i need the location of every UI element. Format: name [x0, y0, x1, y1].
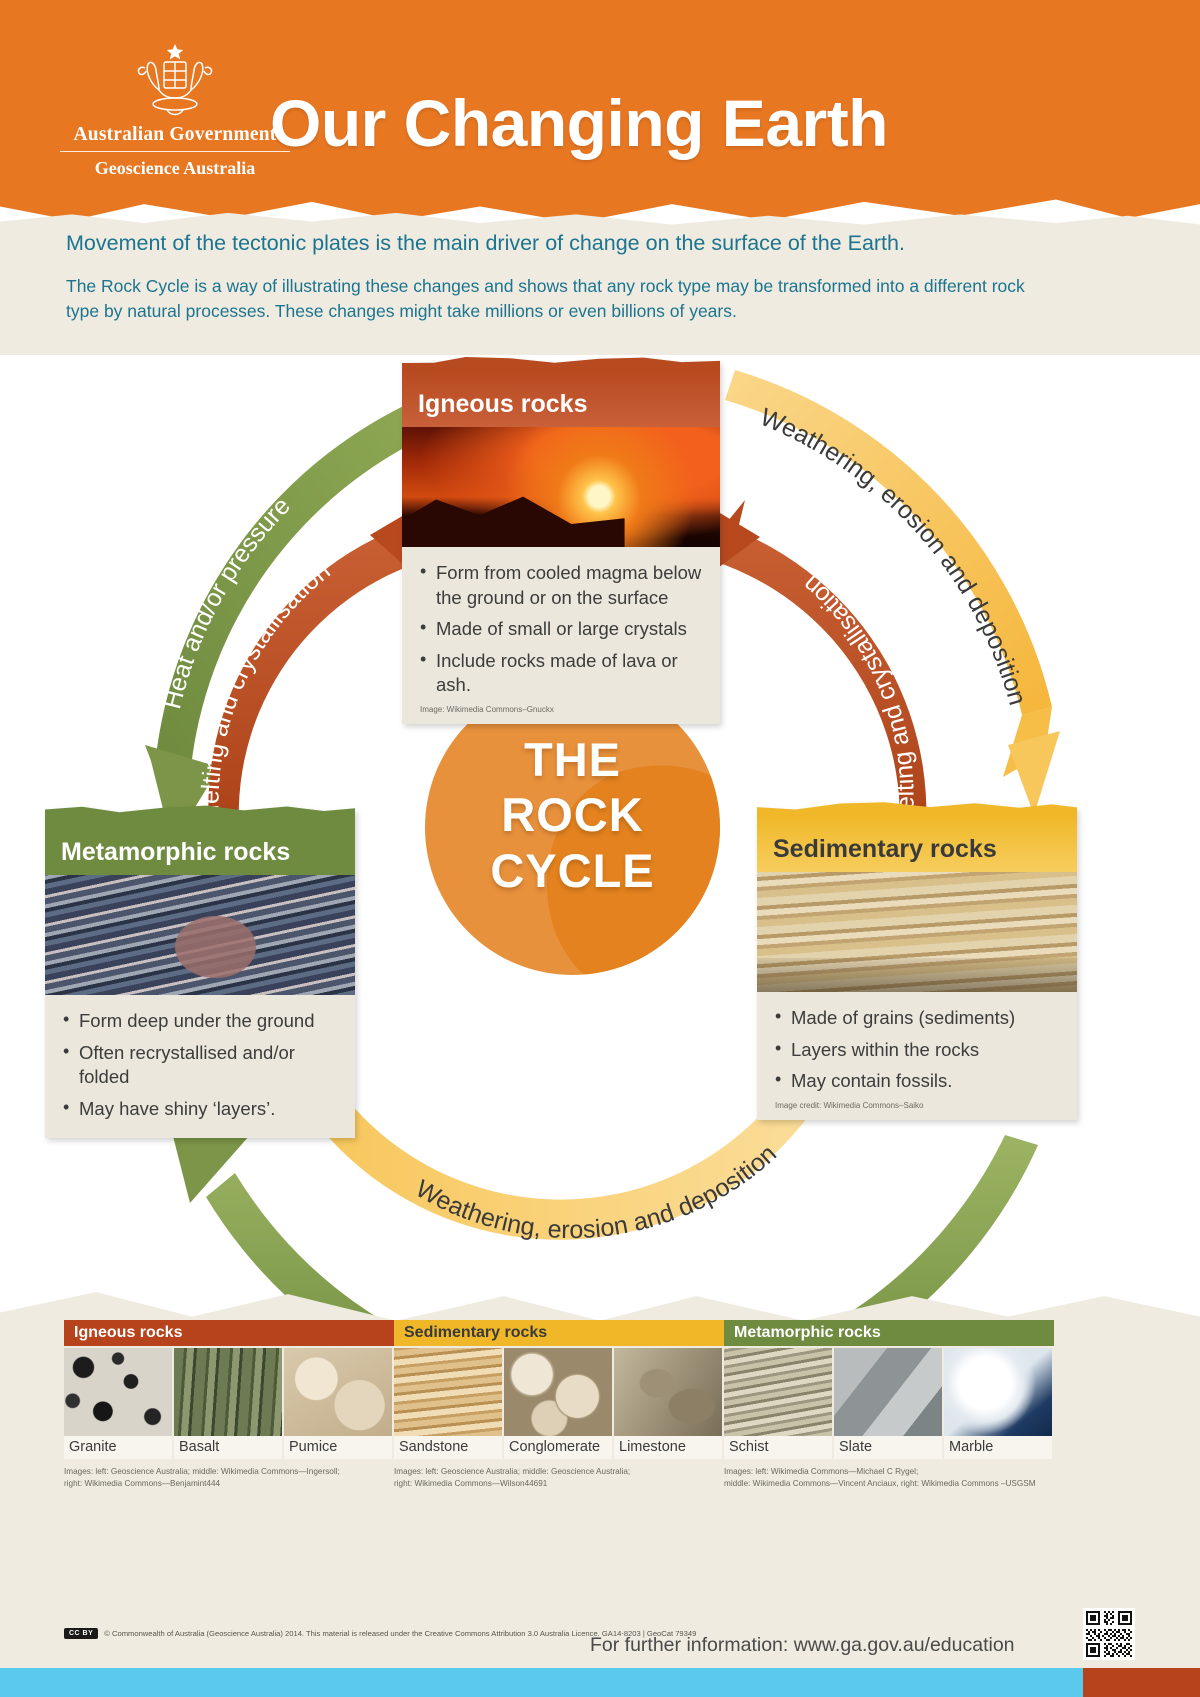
sample-name: Marble [944, 1436, 1052, 1459]
center-line-1: THE [425, 732, 720, 787]
bullet-item: Made of small or large crystals [420, 617, 702, 642]
svg-text:AUSTRALIA: AUSTRALIA [159, 103, 191, 109]
marble-thumbnail [944, 1348, 1052, 1436]
igneous-photo [402, 427, 720, 547]
sample-name: Basalt [174, 1436, 282, 1459]
granite-thumbnail [64, 1348, 172, 1436]
page-title: Our Changing Earth [270, 85, 970, 161]
card-bullet-list: Form from cooled magma below the ground … [420, 561, 702, 698]
footer-bar-blue [0, 1668, 1083, 1697]
image-credit: Image: Wikimedia Commons–Gnuckx [420, 705, 702, 714]
card-body: Form deep under the ground Often recryst… [45, 995, 355, 1138]
metamorphic-photo [45, 875, 355, 995]
gallery-metamorphic: Metamorphic rocks Schist Slate Marble Im… [724, 1320, 1054, 1489]
gallery-credit: Images: left: Geoscience Australia; midd… [64, 1466, 394, 1489]
gallery-sedimentary: Sedimentary rocks Sandstone Conglomerate… [394, 1320, 724, 1489]
card-bullet-list: Form deep under the ground Often recryst… [63, 1009, 337, 1121]
sample-cell: Granite [64, 1348, 172, 1459]
sandstone-thumbnail [394, 1348, 502, 1436]
intro-body: The Rock Cycle is a way of illustrating … [66, 274, 1046, 324]
card-title: Sedimentary rocks [773, 835, 997, 863]
footer-bar-rust [1083, 1668, 1200, 1697]
card-body: Form from cooled magma below the ground … [402, 547, 720, 724]
pumice-thumbnail [284, 1348, 392, 1436]
gallery-credit: Images: left: Geoscience Australia; midd… [394, 1466, 724, 1489]
sample-cell: Marble [944, 1348, 1052, 1459]
sample-name: Sandstone [394, 1436, 502, 1459]
center-line-2: ROCK [425, 787, 720, 842]
conglomerate-thumbnail [504, 1348, 612, 1436]
card-body: Made of grains (sediments) Layers within… [757, 992, 1077, 1120]
credit-line: middle: Wikimedia Commons—Vincent Anciau… [724, 1478, 1054, 1490]
arrow-label: Weathering, erosion and deposition [756, 403, 1031, 708]
sample-name: Conglomerate [504, 1436, 612, 1459]
sample-name: Pumice [284, 1436, 392, 1459]
basalt-thumbnail [174, 1348, 282, 1436]
card-title: Metamorphic rocks [61, 838, 290, 866]
footer-color-bar [0, 1668, 1200, 1697]
coat-of-arms-icon: AUSTRALIA [115, 38, 235, 120]
intro-lead: Movement of the tectonic plates is the m… [66, 230, 1046, 258]
gallery-thumbnails: Sandstone Conglomerate Limestone [394, 1348, 724, 1459]
card-header: Igneous rocks [402, 370, 720, 427]
credit-line: right: Wikimedia Commons—Wilson44691 [394, 1478, 724, 1490]
sample-cell: Basalt [174, 1348, 282, 1459]
government-branding: AUSTRALIA Australian Government Geoscien… [60, 38, 290, 179]
bullet-item: May contain fossils. [775, 1069, 1059, 1094]
gallery-title: Sedimentary rocks [394, 1320, 724, 1346]
card-title: Igneous rocks [418, 390, 588, 418]
slate-thumbnail [834, 1348, 942, 1436]
credit-line: Images: left: Geoscience Australia; midd… [394, 1466, 724, 1478]
center-title: THE ROCK CYCLE [425, 732, 720, 898]
bullet-item: May have shiny ‘layers’. [63, 1097, 337, 1122]
bullet-item: Made of grains (sediments) [775, 1006, 1059, 1031]
card-bullet-list: Made of grains (sediments) Layers within… [775, 1006, 1059, 1094]
bullet-item: Form deep under the ground [63, 1009, 337, 1034]
rock-cycle-diagram: Weathering, erosion and deposition Melti… [0, 345, 1200, 1325]
sample-cell: Limestone [614, 1348, 722, 1459]
government-label: Australian Government [60, 124, 290, 152]
further-information-text: For further information: www.ga.gov.au/e… [590, 1634, 1015, 1657]
schist-thumbnail [724, 1348, 832, 1436]
agency-label: Geoscience Australia [60, 158, 290, 179]
qr-code-icon [1086, 1611, 1132, 1657]
gallery-credit: Images: left: Wikimedia Commons—Michael … [724, 1466, 1054, 1489]
gallery-thumbnails: Granite Basalt Pumice [64, 1348, 394, 1459]
bullet-item: Often recrystallised and/or folded [63, 1041, 337, 1090]
gallery-igneous: Igneous rocks Granite Basalt Pumice Imag… [64, 1320, 394, 1489]
card-metamorphic-rocks: Metamorphic rocks Form deep under the gr… [45, 818, 355, 1138]
bullet-item: Form from cooled magma below the ground … [420, 561, 702, 610]
sample-cell: Sandstone [394, 1348, 502, 1459]
sample-name: Slate [834, 1436, 942, 1459]
sample-cell: Schist [724, 1348, 832, 1459]
credit-line: Images: left: Wikimedia Commons—Michael … [724, 1466, 1054, 1478]
sample-cell: Conglomerate [504, 1348, 612, 1459]
credit-line: right: Wikimedia Commons—Benjamint444 [64, 1478, 394, 1490]
center-line-3: CYCLE [425, 843, 720, 898]
bullet-item: Include rocks made of lava or ash. [420, 649, 702, 698]
card-header: Metamorphic rocks [45, 818, 355, 875]
qr-code[interactable] [1083, 1608, 1135, 1660]
card-sedimentary-rocks: Sedimentary rocks Made of grains (sedime… [757, 815, 1077, 1120]
sample-cell: Pumice [284, 1348, 392, 1459]
gallery-title: Metamorphic rocks [724, 1320, 1054, 1346]
sample-name: Schist [724, 1436, 832, 1459]
card-igneous-rocks: Igneous rocks Form from cooled magma bel… [402, 370, 720, 724]
bullet-item: Layers within the rocks [775, 1038, 1059, 1063]
sample-cell: Slate [834, 1348, 942, 1459]
sample-name: Granite [64, 1436, 172, 1459]
creative-commons-icon: CC BY [64, 1628, 98, 1639]
sample-name: Limestone [614, 1436, 722, 1459]
rock-cycle-center-circle: THE ROCK CYCLE [425, 680, 720, 975]
intro-text-block: Movement of the tectonic plates is the m… [66, 230, 1046, 324]
image-credit: Image credit: Wikimedia Commons–Saiko [775, 1101, 1059, 1110]
limestone-thumbnail [614, 1348, 722, 1436]
credit-line: Images: left: Geoscience Australia; midd… [64, 1466, 394, 1478]
card-header: Sedimentary rocks [757, 815, 1077, 872]
gallery-title: Igneous rocks [64, 1320, 394, 1346]
gallery-thumbnails: Schist Slate Marble [724, 1348, 1054, 1459]
sedimentary-photo [757, 872, 1077, 992]
